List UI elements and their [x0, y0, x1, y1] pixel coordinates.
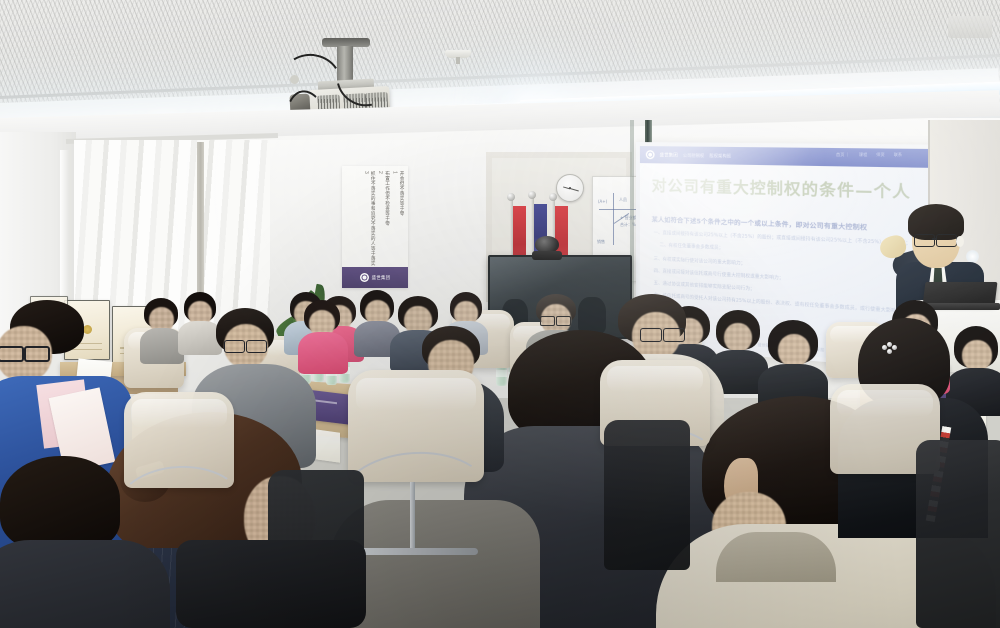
banner-footer: 盛世集团 — [342, 267, 408, 288]
sprinkler-stem — [456, 57, 460, 64]
clock-minute-hand — [570, 188, 579, 192]
presenter-glasses-icon — [936, 234, 957, 247]
banner-line: 布置工作但不检查等于零 — [384, 171, 389, 263]
ceiling-vent — [948, 16, 992, 38]
banner-line: 抓住不落实的事和追究不落实的人等于落实 — [370, 171, 375, 263]
banner-number: 2 — [377, 171, 383, 263]
glasses-icon — [0, 346, 24, 362]
camera-base — [532, 251, 562, 260]
glasses-icon — [246, 340, 267, 353]
presenter-glasses-bridge — [932, 238, 937, 240]
slide-topnav-item: 首页 ｜ — [836, 152, 850, 158]
chair-back[interactable] — [604, 420, 690, 570]
chair-back[interactable] — [176, 540, 366, 628]
flag-finial-icon — [549, 193, 557, 201]
banner-text-block: 1 开会但不落实等于零 2 布置工作但不检查等于零 3 抓住不落实的事和追究不落… — [346, 171, 404, 263]
wall-banner: 1 开会但不落实等于零 2 布置工作但不检查等于零 3 抓住不落实的事和追究不落… — [342, 166, 408, 288]
audience-member — [140, 298, 182, 360]
slide-topnav-item: 课程 — [859, 152, 867, 158]
audience-member — [764, 320, 822, 400]
clip-gem — [882, 345, 887, 350]
clip-gem — [887, 349, 892, 354]
screen-hotspot-glare — [640, 146, 839, 296]
hair — [0, 456, 120, 550]
clip-gem — [892, 345, 897, 350]
presenter-glasses-icon — [914, 234, 935, 247]
presenter-earpiece-icon — [956, 236, 964, 247]
glasses-icon — [24, 346, 50, 362]
whiteboard-note: (A+) — [598, 199, 607, 204]
slide-topnav-item: 联系 — [894, 152, 902, 158]
glasses-icon — [224, 340, 245, 353]
wall-clock-icon — [556, 174, 584, 202]
whiteboard-axis — [613, 193, 614, 245]
flag-red-left — [513, 206, 526, 261]
hair-clip-icon — [882, 342, 897, 354]
glasses-icon — [540, 316, 555, 326]
audience-member — [300, 300, 344, 370]
banner-number: 3 — [363, 171, 369, 263]
glasses-icon — [556, 316, 571, 326]
chair-post — [410, 482, 415, 554]
banner-logo-label: 盛世集团 — [372, 275, 391, 281]
chair-base — [356, 548, 478, 555]
flag-finial-icon — [507, 193, 515, 201]
video-camera-icon — [532, 236, 562, 259]
chair-back[interactable] — [916, 440, 1000, 628]
torso — [0, 540, 170, 628]
slide-topnav-item: 师资 — [876, 152, 884, 158]
banner-line: 开会但不落实等于零 — [399, 171, 404, 263]
whiteboard-note: + 营业额 — [620, 215, 637, 221]
blurred-face — [778, 334, 810, 367]
jacket-collar — [716, 532, 836, 582]
company-logo-icon — [360, 273, 369, 282]
flag-finial-icon — [528, 191, 536, 199]
clock-center-pin — [569, 187, 571, 189]
photo-scene: 1 开会但不落实等于零 2 布置工作但不检查等于零 3 抓住不落实的事和追究不落… — [0, 0, 1000, 628]
blurred-face — [724, 323, 752, 352]
whiteboard-note: 销售 — [597, 239, 605, 245]
audience-member — [712, 310, 764, 382]
banner-number: 1 — [392, 171, 398, 263]
whiteboard-note: 人员 — [619, 197, 627, 203]
sprinkler-icon — [445, 50, 471, 62]
